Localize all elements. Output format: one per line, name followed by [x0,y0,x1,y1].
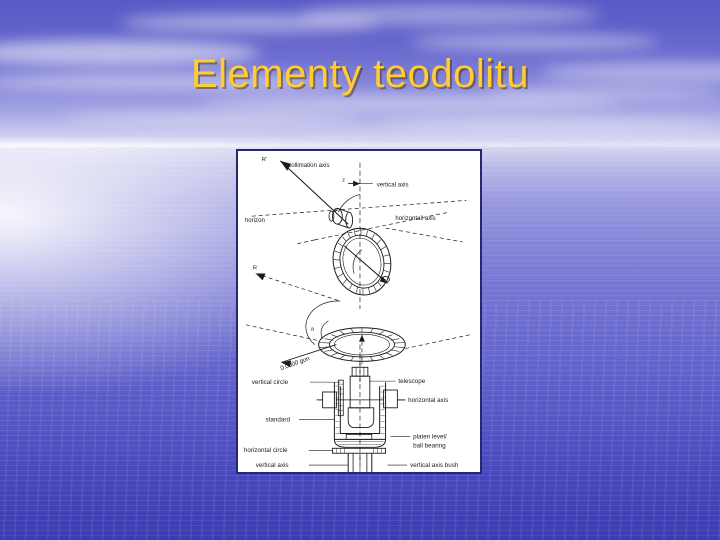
label-horizontal-axis-upper: horizontall axis [395,215,435,222]
label-vertical-axis-bush: vertical axis bush [410,462,459,469]
label-horizontal-circle: horizontal circle [244,447,288,454]
label-telescope: telescope [398,378,425,385]
label-r-prime: R' [262,157,267,163]
cloud-wisp [380,118,720,130]
theodolite-figure-frame[interactable]: R' collimation axis z vertical axis hori… [236,149,482,474]
cloud-wisp [300,4,600,26]
presentation-slide: Elementy teodolitu [0,0,720,540]
label-zenith-angle: z [342,178,345,184]
label-vertical-circle: vertical circle [252,379,289,386]
label-horizontal-axis-lower: horizontal axis [408,397,448,404]
label-vertical-axis-lower: vertical axis [256,462,289,469]
theodolite-diagram: R' collimation axis z vertical axis hori… [238,151,480,472]
label-vertical-axis: vertical axis [377,182,409,189]
label-horizon: horizon [245,217,265,224]
label-platen-level: platen level/ [413,433,447,440]
slide-title: Elementy teodolitu [0,52,720,97]
label-standard: standard [266,417,291,424]
label-r: R [253,266,257,272]
label-ball-bearing: ball bearing [413,442,446,449]
theodolite-diagram-svg: R' collimation axis z vertical axis hori… [238,151,480,472]
cloud-wisp [410,34,660,50]
label-collimation-axis: collimation axis [288,162,329,169]
cloud-wisp [60,112,360,124]
